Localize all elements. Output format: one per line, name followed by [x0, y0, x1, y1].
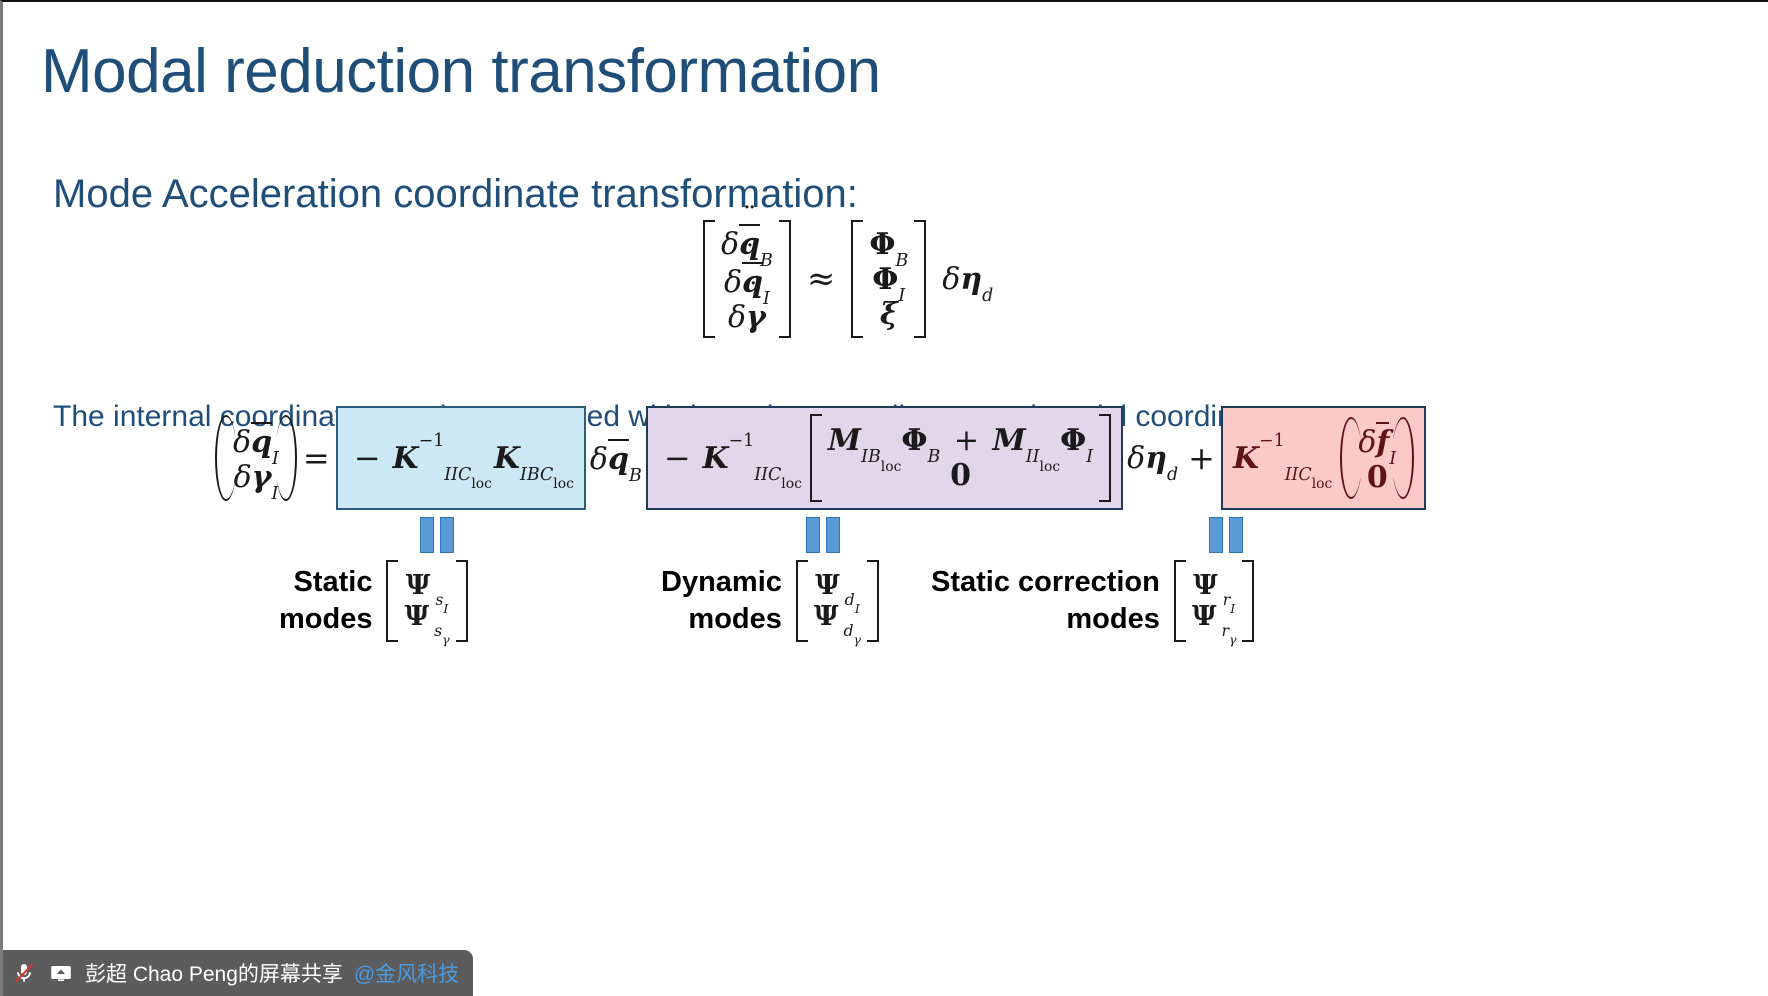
correction-vector-row-1: δfI	[1358, 422, 1396, 460]
dynamic-modes-matrix: Ψ dI Ψ dγ	[796, 560, 879, 642]
equation-mode-acceleration: δ¨qB δ¨qI δ¨γ ≈ ΦB ΦI ξ δηd	[703, 220, 993, 338]
eq1-rhs-row-3: ξ	[880, 297, 898, 332]
dynamic-term-trailing: δηd	[1127, 441, 1178, 476]
static-correction-term: K−1IICloc δfI 0	[1221, 406, 1426, 510]
equals-bar-left	[806, 517, 820, 553]
dynamic-modes-label: Dynamic modes	[661, 564, 782, 638]
mode-group-static: Static modes Ψ sI Ψ sγ	[279, 560, 468, 642]
static-term-K1: K−1IICloc	[393, 441, 492, 476]
eq1-lhs-matrix: δ¨qB δ¨qI δ¨γ	[703, 220, 791, 338]
correction-matrix-row-1: Ψ rI	[1193, 570, 1235, 601]
screen-share-icon[interactable]	[48, 960, 74, 986]
eq2-lhs-row-1: δqI	[233, 422, 279, 460]
equals-bars-dynamic	[806, 517, 840, 553]
dynamic-matrix-row-2: 0	[950, 458, 971, 493]
static-term-K2: KIBCloc	[494, 441, 574, 476]
slide-canvas: Modal reduction transformation Mode Acce…	[0, 0, 1768, 996]
eq1-rhs-row-1: ΦB	[869, 227, 908, 262]
equals-bars-static	[420, 517, 454, 553]
dynamic-matrix-row-1: Ψ dI	[815, 570, 860, 601]
dynamic-term-K1: K−1IICloc	[703, 441, 802, 476]
static-modes-label: Static modes	[279, 564, 372, 638]
mode-group-dynamic: Dynamic modes Ψ dI Ψ dγ	[661, 560, 879, 642]
eq1-relation: ≈	[807, 259, 836, 299]
static-matrix-row-1: Ψ sI	[406, 570, 449, 601]
share-org-text: @金风科技	[354, 958, 459, 988]
eq1-lhs-row-2: δ¨qI	[724, 262, 770, 300]
equals-bar-right	[1229, 517, 1243, 553]
static-modes-term: − K−1IICloc KIBCloc	[336, 406, 586, 510]
dynamic-term-minus: −	[658, 439, 697, 477]
eq1-rhs-matrix: ΦB ΦI ξ	[851, 220, 926, 338]
subheading-mode-acceleration: Mode Acceleration coordinate transformat…	[53, 172, 858, 217]
equals-bar-left	[1209, 517, 1223, 553]
correction-term-plus: +	[1182, 439, 1221, 477]
dynamic-term-matrix: MIBlocΦB + MIIlocΦI 0	[810, 414, 1111, 502]
share-owner-text: 彭超 Chao Peng的屏幕共享	[85, 958, 343, 988]
eq1-lhs-row-1: δ¨qB	[721, 224, 773, 262]
equals-bars-correction	[1209, 517, 1243, 553]
correction-term-vector: δfI 0	[1340, 417, 1414, 499]
static-modes-matrix: Ψ sI Ψ sγ	[386, 560, 467, 642]
dynamic-matrix-row-1: MIBlocΦB + MIIlocΦI	[828, 423, 1093, 458]
microphone-muted-icon[interactable]	[11, 960, 37, 986]
static-correction-modes-label: Static correction modes	[931, 564, 1160, 638]
equals-bar-right	[440, 517, 454, 553]
eq2-lhs-vector: δqI δγI	[215, 415, 297, 501]
correction-vector-row-2: 0	[1367, 460, 1388, 495]
page-title: Modal reduction transformation	[41, 36, 881, 107]
equals-bar-left	[420, 517, 434, 553]
correction-term-K1: K−1IICloc	[1233, 441, 1332, 476]
eq2-equals: =	[297, 439, 336, 477]
static-correction-modes-matrix: Ψ rI Ψ rγ	[1174, 560, 1255, 642]
equation-internal-coordinates: δqI δγI = − K−1IICloc KIBCloc δqB −	[215, 406, 1426, 510]
equals-bar-right	[826, 517, 840, 553]
eq1-trailing-term: δηd	[942, 262, 993, 297]
screen-share-status-bar[interactable]: 彭超 Chao Peng的屏幕共享 @金风科技	[3, 950, 473, 996]
eq1-lhs-row-3: δ¨γ	[728, 300, 766, 335]
static-term-trailing: δqB	[590, 439, 642, 477]
dynamic-modes-term: − K−1IICloc MIBlocΦB + MIIlocΦI 0	[646, 406, 1123, 510]
static-term-minus: −	[348, 439, 387, 477]
mode-group-static-correction: Static correction modes Ψ rI Ψ rγ	[931, 560, 1254, 642]
